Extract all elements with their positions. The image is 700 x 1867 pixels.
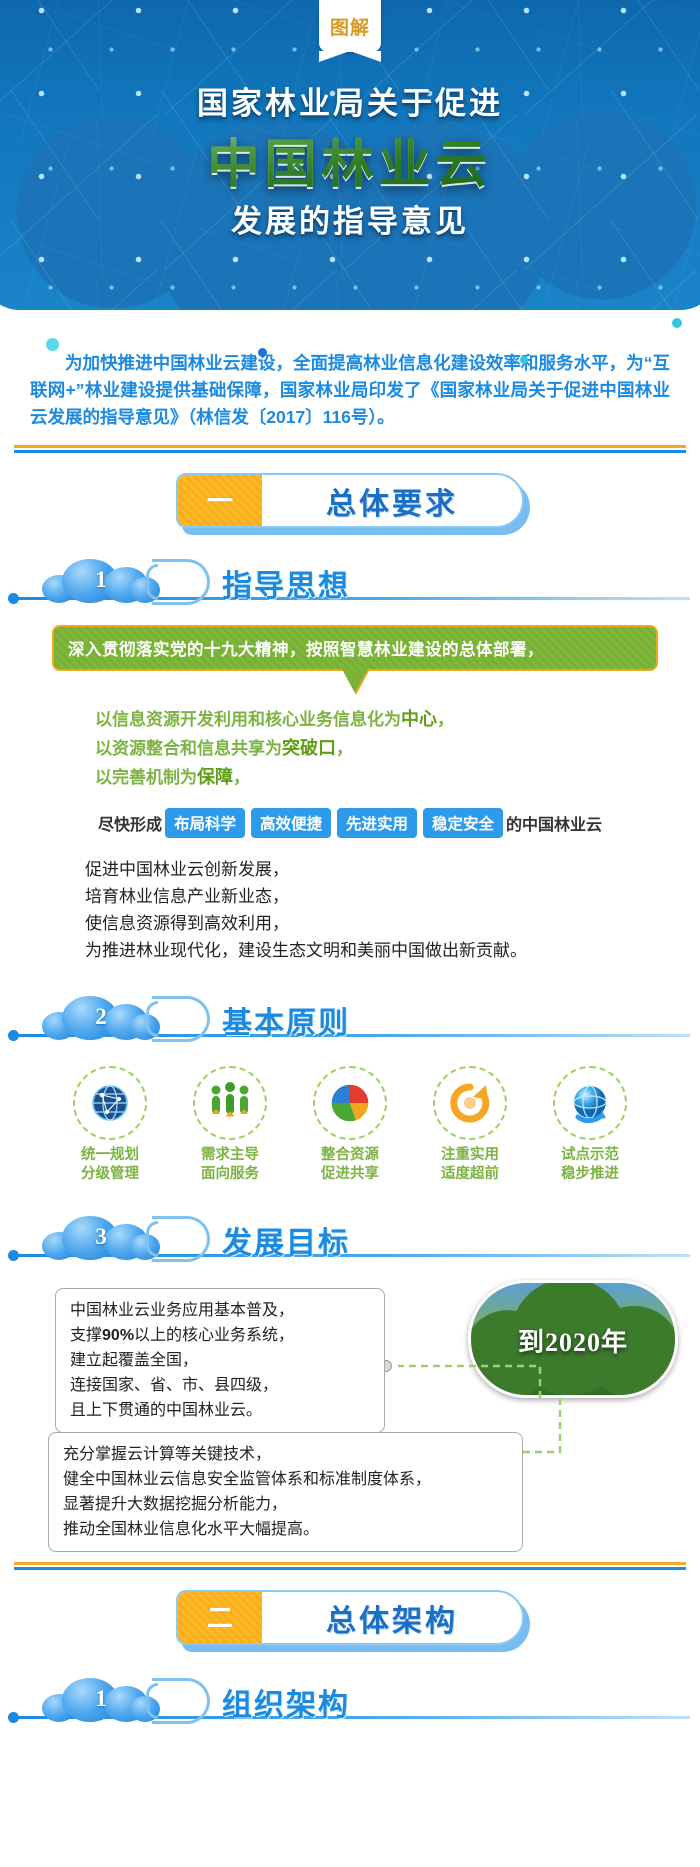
goal2-line-4: 推动全国林业信息化水平大幅提高。	[63, 1517, 508, 1542]
goal-box-primary: 中国林业云业务应用基本普及， 支撑90%以上的核心业务系统， 建立起覆盖全国， …	[55, 1288, 385, 1433]
brace-right-icon	[152, 1678, 210, 1724]
globe-network-icon	[86, 1079, 134, 1127]
intro-paragraph-block: 为加快推进中国林业云建设，全面提高林业信息化建设效率和服务水平，为“互联网+”林…	[0, 350, 700, 431]
infographic-page: 图解 国家林业局关于促进 中国林业云 发展的指导意见 为加快推进中国林业云建设，…	[0, 0, 700, 1867]
subsection-number: 2	[42, 1004, 160, 1030]
green-line-3-prefix: 以完善机制为	[95, 768, 197, 787]
green-line-1-prefix: 以信息资源开发利用和核心业务信息化为	[95, 710, 401, 729]
principles-icon-row: 统一规划 分级管理 需求主导 面向服务	[0, 1066, 700, 1184]
hero-banner: 图解 国家林业局关于促进 中国林业云 发展的指导意见	[0, 0, 700, 310]
divider-rule-2	[14, 1562, 686, 1570]
hero-title-line3: 发展的指导意见	[0, 196, 700, 241]
section-title: 总体要求	[262, 479, 522, 523]
goal2-line-3: 显著提升大数据挖掘分析能力，	[63, 1492, 508, 1517]
tag-item-3[interactable]: 先进实用	[337, 808, 417, 838]
goal1-line-3: 建立起覆盖全国，	[70, 1348, 370, 1373]
green-line-1: 以信息资源开发利用和核心业务信息化为中心，	[95, 705, 700, 734]
goal2-line-2: 健全中国林业云信息安全监管体系和标准制度体系，	[63, 1467, 508, 1492]
principle-label: 试点示范 稳步推进	[534, 1146, 646, 1184]
hero-title-line2: 中国林业云	[0, 122, 700, 197]
principle-label: 注重实用 适度超前	[414, 1146, 526, 1184]
guiding-principles-lines: 以信息资源开发利用和核心业务信息化为中心， 以资源整合和信息共享为突破口， 以完…	[95, 705, 700, 792]
principle-item-3[interactable]: 整合资源 促进共享	[294, 1066, 406, 1184]
brace-right-icon	[152, 559, 210, 605]
principle-circle	[193, 1066, 267, 1140]
goal1-line-2: 支撑90%以上的核心业务系统，	[70, 1323, 370, 1348]
rule-blue	[14, 1567, 686, 1570]
section-header-overall-architecture: 二 总体架构	[176, 1590, 524, 1648]
principle-label-line1: 需求主导	[201, 1147, 259, 1163]
principle-circle	[313, 1066, 387, 1140]
bubble-tail-icon	[342, 669, 368, 693]
principle-label-line2: 促进共享	[321, 1166, 379, 1182]
brace-right-icon	[152, 1216, 210, 1262]
cloud-badge: 3	[42, 1216, 160, 1260]
section-header-body: 二 总体架构	[176, 1590, 524, 1645]
subsection-title: 基本原则	[222, 998, 350, 1042]
subsection-rule-dot	[8, 593, 19, 604]
guiding-outcome-lines: 促进中国林业云创新发展， 培育林业信息产业新业态， 使信息资源得到高效利用， 为…	[85, 856, 700, 964]
principle-label-line2: 面向服务	[201, 1166, 259, 1182]
green-line-2-suffix: ，	[336, 739, 353, 758]
intro-text: 为加快推进中国林业云建设，全面提高林业信息化建设效率和服务水平，为“互联网+”林…	[30, 350, 670, 431]
subsection-title: 指导思想	[222, 561, 350, 605]
principle-circle	[553, 1066, 627, 1140]
globe-sphere-icon	[566, 1079, 614, 1127]
guiding-ideology-bubble: 深入贯彻落实党的十九大精神，按照智慧林业建设的总体部署，	[52, 625, 658, 671]
green-line-3-keyword: 保障	[197, 767, 233, 787]
subsection-title: 发展目标	[222, 1218, 350, 1262]
principle-label: 需求主导 面向服务	[174, 1146, 286, 1184]
brace-right-icon	[152, 996, 210, 1042]
year-target-label: 到2020年	[468, 1322, 678, 1359]
goal1-line-5: 且上下贯通的中国林业云。	[70, 1398, 370, 1423]
cloud-badge: 1	[42, 1678, 160, 1722]
principle-label-line1: 统一规划	[81, 1147, 139, 1163]
rule-orange	[14, 445, 686, 448]
green-line-3-suffix: ，	[233, 768, 250, 787]
principle-label-line1: 注重实用	[441, 1147, 499, 1163]
decor-dot-2	[258, 348, 267, 357]
dark-line-3: 使信息资源得到高效利用，	[85, 910, 700, 937]
pie-chart-icon	[326, 1079, 374, 1127]
tagrow-lead: 尽快形成	[98, 811, 162, 835]
cloud-badge: 2	[42, 996, 160, 1040]
subsection-header-guiding-ideology: 1 指导思想	[0, 553, 700, 611]
decor-dot-4	[672, 318, 682, 328]
principle-circle	[433, 1066, 507, 1140]
tagrow-trail: 的中国林业云	[506, 811, 602, 835]
tujie-ribbon: 图解	[319, 0, 381, 52]
section-badge-label: 一	[207, 488, 233, 514]
principle-item-2[interactable]: 需求主导 面向服务	[174, 1066, 286, 1184]
principle-label: 统一规划 分级管理	[54, 1146, 166, 1184]
subsection-header-basic-principles: 2 基本原则	[0, 990, 700, 1048]
green-line-1-suffix: ，	[437, 710, 454, 729]
ribbon-label: 图解	[330, 13, 370, 40]
principle-label-line1: 整合资源	[321, 1147, 379, 1163]
principle-circle	[73, 1066, 147, 1140]
development-goals-area: 到2020年 中国林业云业务应用基本普及， 支撑90%以上的核心业务系统， 建立…	[0, 1280, 700, 1538]
tag-item-2[interactable]: 高效便捷	[251, 808, 331, 838]
principle-label: 整合资源 促进共享	[294, 1146, 406, 1184]
goal2-line-1: 充分掌握云计算等关键技术，	[63, 1442, 508, 1467]
subsection-rule-dot	[8, 1250, 19, 1261]
dark-line-1: 促进中国林业云创新发展，	[85, 856, 700, 883]
section-badge-one: 一	[178, 475, 262, 526]
green-line-1-keyword: 中心	[401, 709, 437, 729]
decor-dot-1	[46, 338, 59, 351]
principle-label-line1: 试点示范	[561, 1147, 619, 1163]
subsection-number: 3	[42, 1224, 160, 1250]
section-header-overall-requirements: 一 总体要求	[176, 473, 524, 531]
principle-label-line2: 稳步推进	[561, 1166, 619, 1182]
goal1-highlight: 90%	[102, 1327, 134, 1344]
subsection-header-development-goals: 3 发展目标	[0, 1210, 700, 1268]
rule-orange	[14, 1562, 686, 1565]
feature-tag-row: 尽快形成 布局科学 高效便捷 先进实用 稳定安全 的中国林业云	[0, 808, 700, 838]
green-line-2: 以资源整合和信息共享为突破口，	[95, 734, 700, 763]
subsection-rule-dot	[8, 1030, 19, 1041]
section-header-body: 一 总体要求	[176, 473, 524, 528]
dark-line-2: 培育林业信息产业新业态，	[85, 883, 700, 910]
people-arrows-icon	[206, 1079, 254, 1127]
principle-label-line2: 分级管理	[81, 1166, 139, 1182]
subsection-title: 组织架构	[222, 1680, 350, 1724]
cloud-badge: 1	[42, 559, 160, 603]
principle-item-5[interactable]: 试点示范 稳步推进	[534, 1066, 646, 1184]
divider-rule-1	[14, 445, 686, 453]
green-bubble-wrap: 深入贯彻落实党的十九大精神，按照智慧林业建设的总体部署，	[52, 625, 658, 671]
goal1-line-4: 连接国家、省、市、县四级，	[70, 1373, 370, 1398]
tag-item-4[interactable]: 稳定安全	[423, 808, 503, 838]
decor-dot-3	[520, 356, 528, 364]
subsection-header-organization-architecture: 1 组织架构	[0, 1672, 700, 1730]
goal-box-secondary: 充分掌握云计算等关键技术， 健全中国林业云信息安全监管体系和标准制度体系， 显著…	[48, 1432, 523, 1552]
subsection-number: 1	[42, 1686, 160, 1712]
subsection-rule-dot	[8, 1712, 19, 1723]
subsection-number: 1	[42, 567, 160, 593]
year-target-cloud: 到2020年	[468, 1280, 678, 1398]
green-line-2-prefix: 以资源整合和信息共享为	[95, 739, 282, 758]
section-badge-two: 二	[178, 1592, 262, 1643]
principle-label-line2: 适度超前	[441, 1166, 499, 1182]
section-badge-label: 二	[207, 1605, 233, 1631]
principle-item-4[interactable]: 注重实用 适度超前	[414, 1066, 526, 1184]
goal1-line-1: 中国林业云业务应用基本普及，	[70, 1298, 370, 1323]
green-line-2-keyword: 突破口	[282, 738, 336, 758]
refresh-arrow-icon	[446, 1079, 494, 1127]
rule-blue	[14, 450, 686, 453]
tag-item-1[interactable]: 布局科学	[165, 808, 245, 838]
dark-line-4: 为推进林业现代化，建设生态文明和美丽中国做出新贡献。	[85, 937, 700, 964]
green-line-3: 以完善机制为保障，	[95, 763, 700, 792]
section-title: 总体架构	[262, 1596, 522, 1640]
principle-item-1[interactable]: 统一规划 分级管理	[54, 1066, 166, 1184]
hero-title-line1: 国家林业局关于促进	[0, 78, 700, 123]
